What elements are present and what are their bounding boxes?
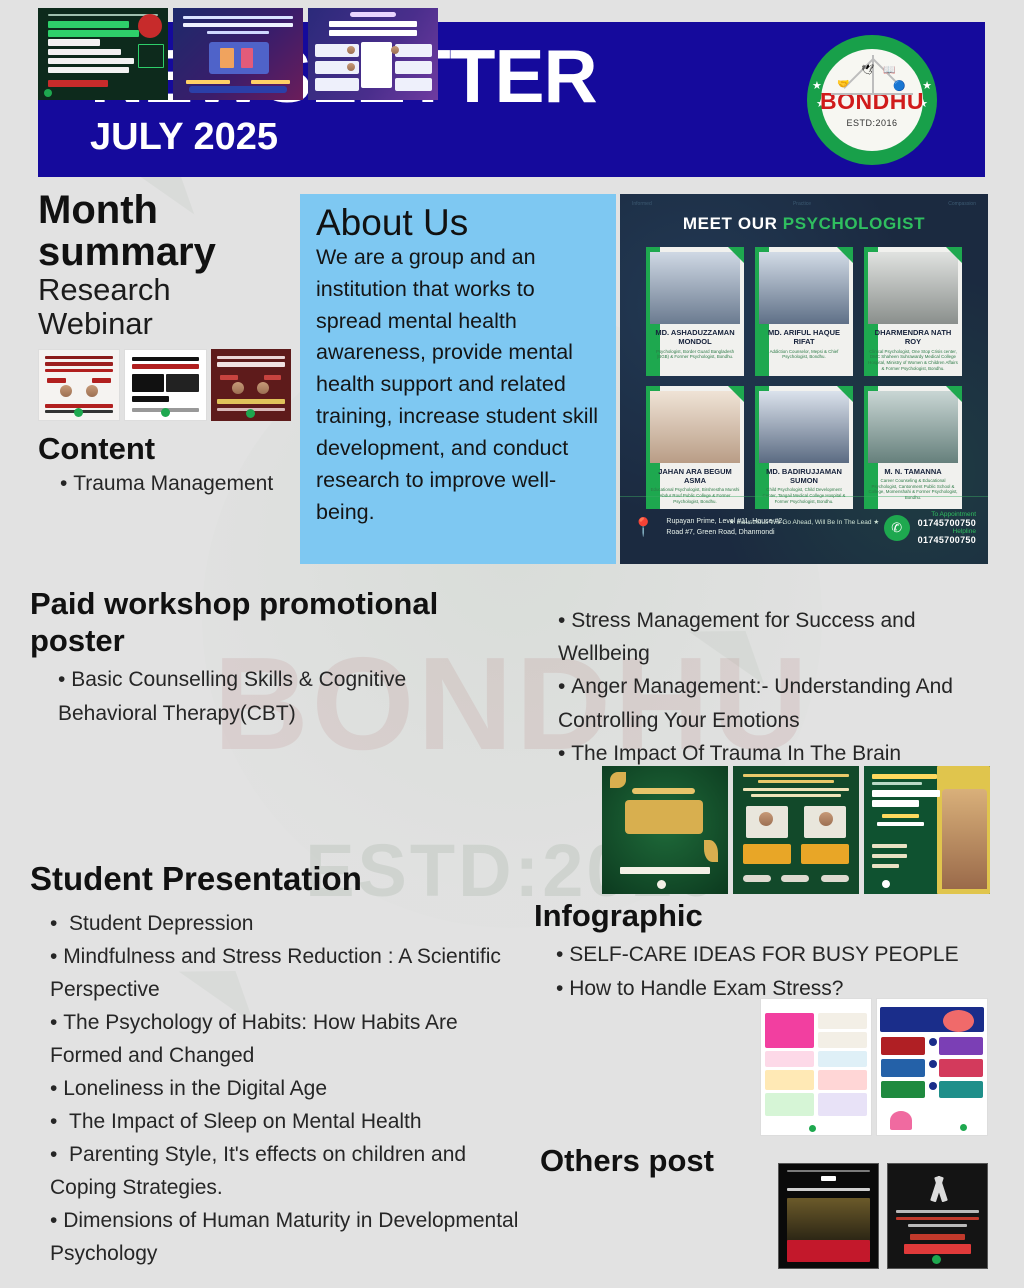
content-item-label: Trauma Management (73, 472, 273, 495)
about-us-title: About Us (316, 204, 602, 241)
thumbnail-cbt-purple-speakers-poster[interactable] (308, 8, 438, 100)
presentation-topic-label: Loneliness in the Digital Age (63, 1077, 327, 1100)
psychologist-card[interactable]: MD. ASHADUZZAMAN MONDOL Psychologist, Bo… (646, 247, 744, 376)
psychologist-name: DHARMENDRA NATH ROY (868, 328, 958, 347)
infographic-item-label: How to Handle Exam Stress? (569, 977, 843, 1000)
psychologist-role: Addiction Counselor, Mepsi & Chief Psych… (759, 349, 849, 360)
logo-established: ESTD:2016 (846, 118, 897, 128)
student-presentation-thumbnails (602, 766, 990, 894)
thumbnail-mindfulness-presentation[interactable] (733, 766, 859, 894)
poster-title-part1: MEET OUR (683, 214, 783, 233)
poster-corner-label-1: Informed (632, 201, 652, 207)
thumbnail-research-webinar-3[interactable] (211, 349, 291, 421)
list-item: • Basic Counselling Skills & Cognitive B… (58, 663, 510, 731)
psychologist-name: JAHAN ARA BEGUM ASMA (650, 467, 740, 486)
presentation-topic-label: Student Depression (69, 912, 253, 935)
psychologist-card[interactable]: MD. ARIFUL HAQUE RIFAT Addiction Counsel… (755, 247, 853, 376)
month-summary-section: Month summary Research Webinar (38, 190, 293, 501)
helpline-number[interactable]: 01745700750 (918, 535, 976, 545)
book-icon: 📖 (883, 65, 895, 76)
issue-date: JULY 2025 (90, 116, 807, 159)
presentation-topic-label: Parenting Style, It's effects on childre… (50, 1143, 466, 1199)
appointment-number[interactable]: 01745700750 (918, 518, 976, 528)
psychologist-role: Psychologist, Border Guard Bangladesh (B… (650, 349, 740, 360)
research-webinar-thumbnails (38, 349, 291, 421)
location-pin-icon: 📍 (632, 517, 654, 538)
content-bullet-list: • Trauma Management (60, 467, 293, 501)
month-summary-subtitle-research: Research (38, 273, 293, 307)
paid-workshop-item-label: Basic Counselling Skills & Cognitive Beh… (58, 668, 406, 725)
list-item: • Trauma Management (60, 467, 293, 501)
presentation-topic-label: Dimensions of Human Maturity in Developm… (50, 1209, 518, 1265)
infographic-title: Infographic (534, 898, 1004, 934)
workshop-topics-list: • Stress Management for Success and Well… (558, 604, 998, 770)
support-icon: 🔵 (893, 81, 905, 92)
list-item: • Student Depression (50, 908, 530, 941)
topic-label: Stress Management for Success and Wellbe… (558, 609, 916, 665)
list-item: • Mindfulness and Stress Reduction : A S… (50, 941, 530, 1007)
poster-address: Rupayan Prime, Level #11, House #2, Road… (666, 517, 875, 537)
poster-contact-bar: 📍 Rupayan Prime, Level #11, House #2, Ro… (620, 496, 988, 558)
thumbnail-exam-stress-infographic[interactable] (760, 998, 872, 1136)
list-item: • Anger Management:- Understanding And C… (558, 670, 998, 736)
psychologist-row-bottom: JAHAN ARA BEGUM ASMA Educational Psychol… (620, 386, 988, 509)
helpline-label: Helpline (918, 528, 976, 535)
bondhu-logo: ★ ★ ★ ★ ★ ★ 🤝 🕊 📖 🔵 BONDHU ESTD:2016 (807, 35, 937, 165)
paid-workshop-thumbnails (38, 8, 438, 100)
psychologist-name: M. N. TAMANNA (868, 467, 958, 476)
presentation-topic-label: The Psychology of Habits: How Habits Are… (50, 1011, 458, 1067)
topic-label: The Impact Of Trauma In The Brain (571, 742, 901, 765)
poster-corner-label-3: Compassion (948, 201, 976, 207)
psychologist-card[interactable]: M. N. TAMANNA Career Counseling & Educat… (864, 386, 962, 509)
student-presentation-title: Student Presentation (30, 860, 530, 898)
month-summary-title: Month summary (38, 190, 293, 273)
list-item: • The Psychology of Habits: How Habits A… (50, 1007, 530, 1073)
content-title: Content (38, 431, 293, 467)
about-us-card: About Us We are a group and an instituti… (300, 194, 616, 564)
paid-workshop-title: Paid workshop promotional poster (30, 586, 510, 659)
about-us-text: We are a group and an institution that w… (316, 242, 602, 528)
psychologist-role: Clinical Psychologist, One Stop Crisis c… (868, 349, 958, 372)
thumbnail-bengali-training-poster[interactable] (173, 8, 303, 100)
others-post-title: Others post (540, 1143, 714, 1179)
psychologist-card[interactable]: JAHAN ARA BEGUM ASMA Educational Psychol… (646, 386, 744, 509)
thumbnail-self-care-tips-infographic[interactable] (876, 998, 988, 1136)
list-item: • The Impact Of Trauma In The Brain (558, 737, 998, 770)
thumbnail-trauma-brain-presentation[interactable] (864, 766, 990, 894)
thumbnail-research-webinar-1[interactable] (38, 349, 120, 421)
handshake-heart-icon: 🤝 (837, 79, 849, 90)
paid-workshop-bullet-list: • Basic Counselling Skills & Cognitive B… (58, 663, 510, 731)
presentation-topic-label: Mindfulness and Stress Reduction : A Sci… (50, 945, 501, 1001)
list-item: • SELF-CARE IDEAS FOR BUSY PEOPLE (556, 938, 1004, 972)
poster-title-part2: PSYCHOLOGIST (783, 214, 925, 233)
psychologist-card[interactable]: DHARMENDRA NATH ROY Clinical Psychologis… (864, 247, 962, 376)
thumbnail-others-post-dark-photo[interactable] (778, 1163, 879, 1269)
thumbnail-cbt-dark-green-poster[interactable] (38, 8, 168, 100)
presentation-topic-label: The Impact of Sleep on Mental Health (69, 1110, 422, 1133)
thumbnail-others-post-mourning-ribbon[interactable] (887, 1163, 988, 1269)
phone-icon: ✆ (884, 515, 910, 541)
psychologist-name: MD. BADIRUJJAMAN SUMON (759, 467, 849, 486)
infographic-list: • SELF-CARE IDEAS FOR BUSY PEOPLE • How … (556, 938, 1004, 1006)
list-item: • Dimensions of Human Maturity in Develo… (50, 1205, 530, 1271)
month-summary-subtitle-webinar: Webinar (38, 307, 293, 341)
psychologist-name: MD. ASHADUZZAMAN MONDOL (650, 328, 740, 347)
student-presentation-section: Student Presentation • Student Depressio… (30, 860, 530, 1271)
thumbnail-research-webinar-2[interactable] (124, 349, 206, 421)
birds-icon: 🕊 (861, 65, 874, 76)
poster-phone-block: To Appointment 01745700750 Helpline 0174… (918, 511, 976, 545)
student-presentation-list: • Student Depression • Mindfulness and S… (50, 908, 530, 1271)
others-post-thumbnails (778, 1163, 988, 1269)
poster-corner-label-2: Practice (793, 201, 811, 207)
thumbnail-100th-student-presentation[interactable] (602, 766, 728, 894)
list-item: • The Impact of Sleep on Mental Health (50, 1106, 530, 1139)
topic-label: Anger Management:- Understanding And Con… (558, 675, 953, 731)
psychologist-name: MD. ARIFUL HAQUE RIFAT (759, 328, 849, 347)
poster-title: MEET OUR PSYCHOLOGIST (620, 214, 988, 234)
list-item: • Parenting Style, It's effects on child… (50, 1139, 530, 1205)
infographic-section: Infographic • SELF-CARE IDEAS FOR BUSY P… (534, 898, 1004, 1006)
list-item: • Stress Management for Success and Well… (558, 604, 998, 670)
list-item: • Loneliness in the Digital Age (50, 1073, 530, 1106)
workshop-topics-section: • Stress Management for Success and Well… (558, 604, 998, 770)
paid-workshop-section: Paid workshop promotional poster • Basic… (30, 586, 510, 731)
infographic-thumbnails (760, 998, 988, 1136)
psychologist-row-top: MD. ASHADUZZAMAN MONDOL Psychologist, Bo… (620, 247, 988, 376)
infographic-item-label: SELF-CARE IDEAS FOR BUSY PEOPLE (569, 943, 958, 966)
psychologist-card[interactable]: MD. BADIRUJJAMAN SUMON Child Psychologis… (755, 386, 853, 509)
meet-our-psychologist-poster[interactable]: Informed Practice Compassion MEET OUR PS… (620, 194, 988, 564)
appointment-label: To Appointment (918, 511, 976, 518)
